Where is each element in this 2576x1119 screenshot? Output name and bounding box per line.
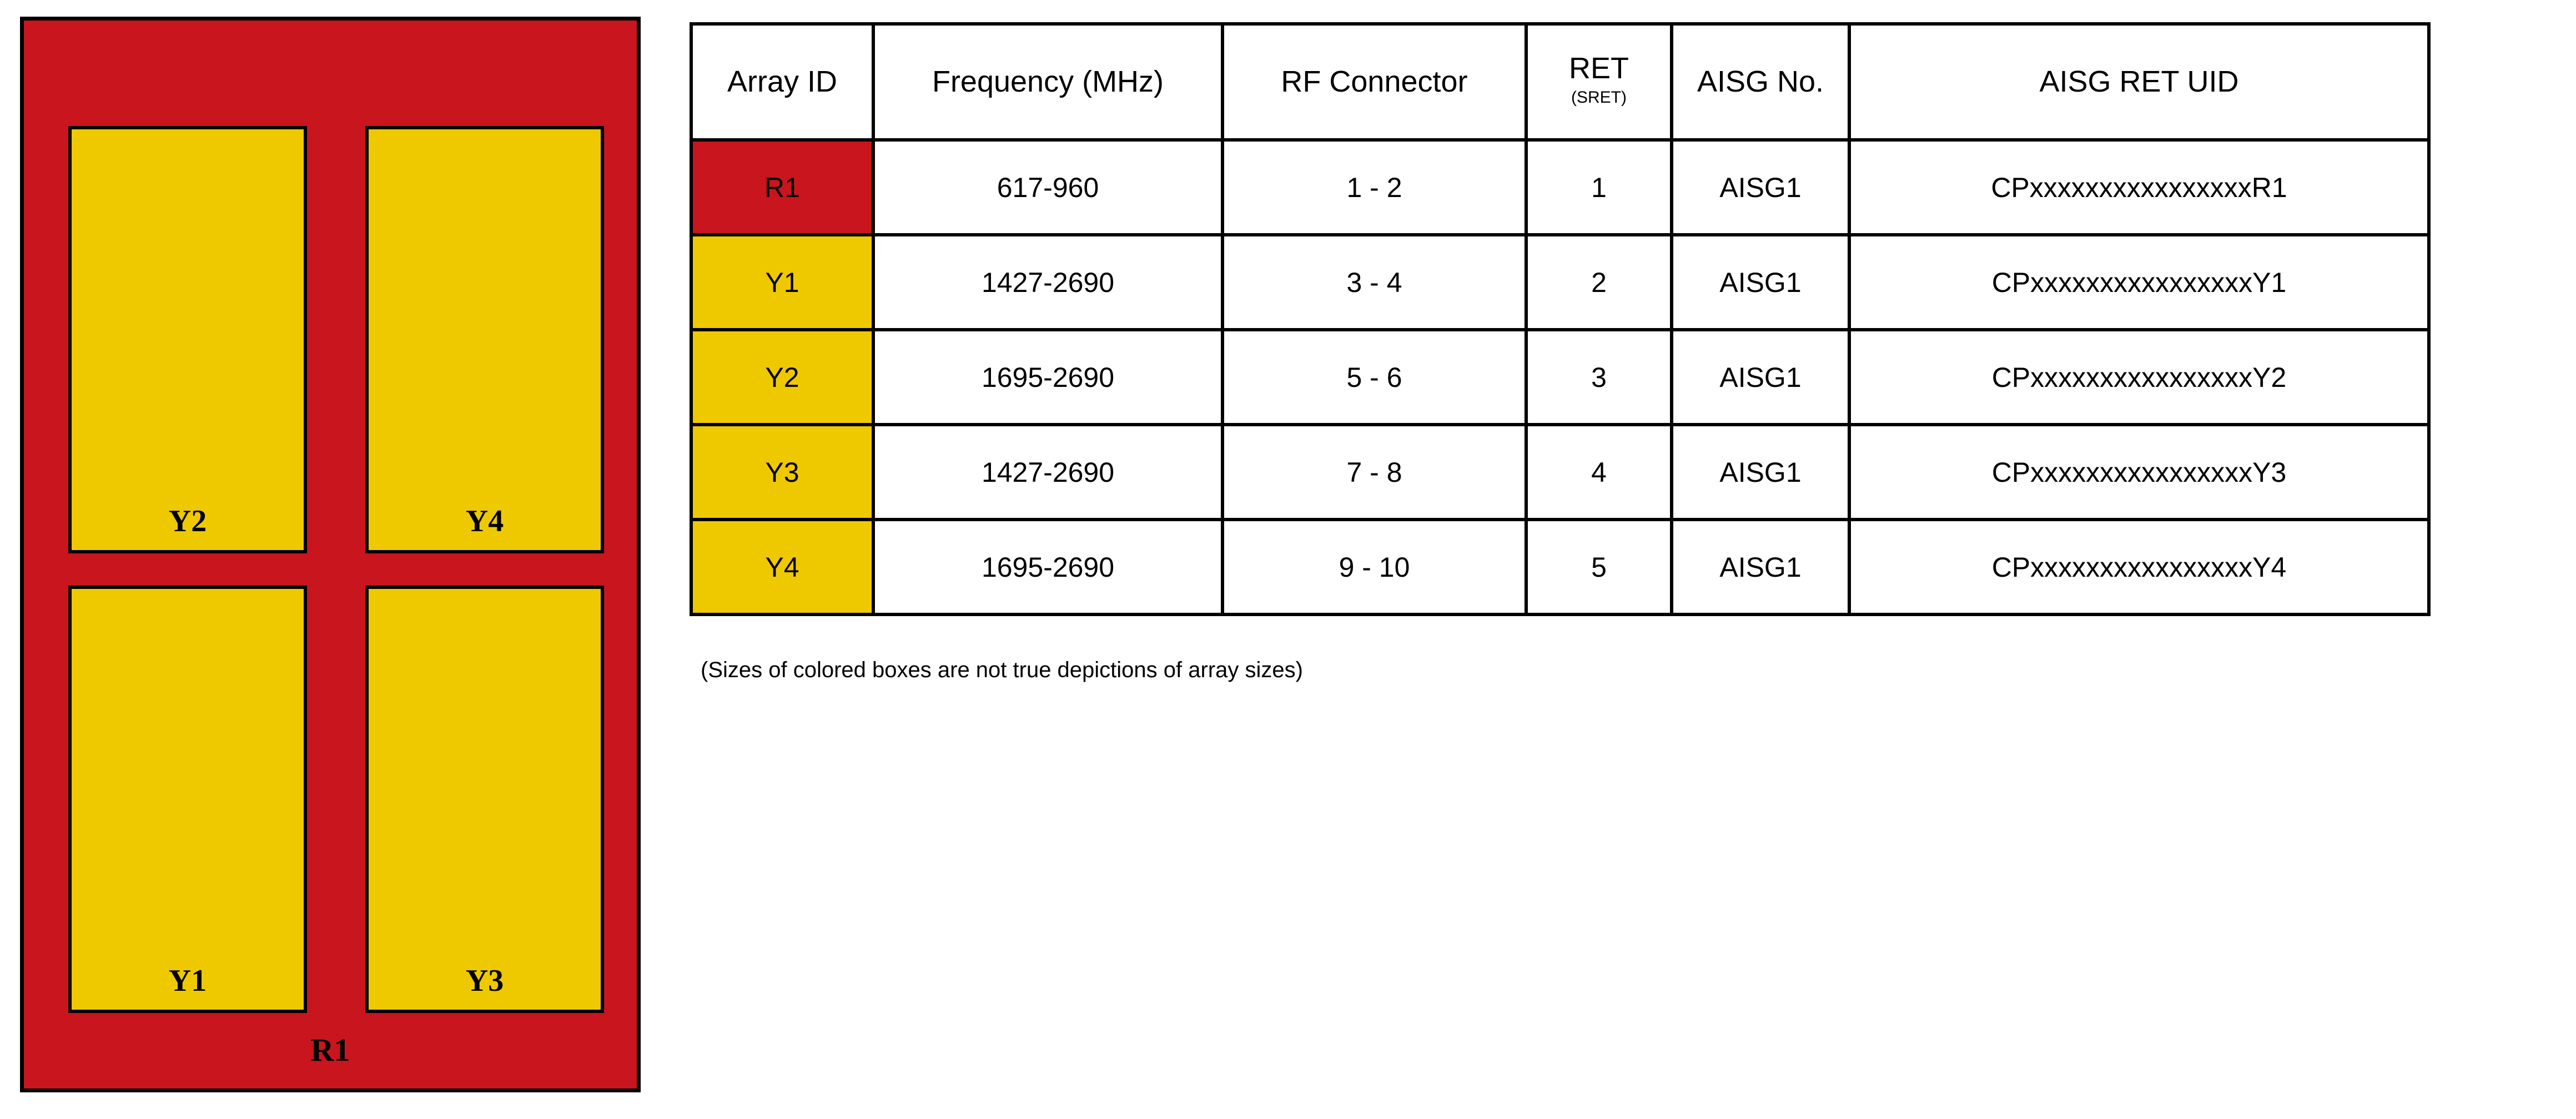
cell-array-id: Y4	[691, 520, 873, 614]
cell-rf-connector: 1 - 2	[1222, 140, 1526, 235]
cell-rf-connector: 9 - 10	[1222, 520, 1526, 614]
cell-array-id: Y2	[691, 330, 873, 425]
column-header-rf-connector: RF Connector	[1222, 24, 1526, 140]
cell-array-id: Y1	[691, 235, 873, 330]
cell-aisg-ret-uid: CPxxxxxxxxxxxxxxxxY4	[1849, 520, 2429, 614]
table-header-row: Array ID Frequency (MHz) RF Connector RE…	[691, 24, 2429, 140]
cell-aisg-ret-uid: CPxxxxxxxxxxxxxxxxY1	[1849, 235, 2429, 330]
column-header-aisg-no: AISG No.	[1672, 24, 1849, 140]
array-box-label-y3: Y3	[369, 965, 601, 996]
array-box-label-y4: Y4	[369, 506, 601, 537]
table-row: R1 617-960 1 - 2 1 AISG1 CPxxxxxxxxxxxxx…	[691, 140, 2429, 235]
column-header-frequency: Frequency (MHz)	[873, 24, 1222, 140]
cell-array-id: R1	[691, 140, 873, 235]
cell-aisg-no: AISG1	[1672, 520, 1849, 614]
cell-aisg-ret-uid: CPxxxxxxxxxxxxxxxxR1	[1849, 140, 2429, 235]
array-box-label-y1: Y1	[72, 965, 304, 996]
array-box-y4: Y4	[365, 126, 604, 553]
array-box-y3: Y3	[365, 586, 604, 1013]
cell-aisg-ret-uid: CPxxxxxxxxxxxxxxxxY3	[1849, 425, 2429, 520]
cell-rf-connector: 7 - 8	[1222, 425, 1526, 520]
cell-rf-connector: 3 - 4	[1222, 235, 1526, 330]
column-header-ret-sub: (SRET)	[1532, 84, 1666, 111]
table-row: Y1 1427-2690 3 - 4 2 AISG1 CPxxxxxxxxxxx…	[691, 235, 2429, 330]
cell-aisg-no: AISG1	[1672, 140, 1849, 235]
ret-configuration-table-wrapper: Array ID Frequency (MHz) RF Connector RE…	[690, 22, 2354, 616]
cell-aisg-no: AISG1	[1672, 330, 1849, 425]
cell-aisg-no: AISG1	[1672, 235, 1849, 330]
cell-frequency: 1427-2690	[873, 235, 1222, 330]
antenna-panel-diagram: Y2 Y4 Y1 Y3 R1	[20, 17, 641, 1092]
cell-rf-connector: 5 - 6	[1222, 330, 1526, 425]
column-header-aisg-ret-uid: AISG RET UID	[1849, 24, 2429, 140]
column-header-ret: RET (SRET)	[1526, 24, 1672, 140]
table-row: Y2 1695-2690 5 - 6 3 AISG1 CPxxxxxxxxxxx…	[691, 330, 2429, 425]
column-header-array-id: Array ID	[691, 24, 873, 140]
cell-frequency: 1695-2690	[873, 330, 1222, 425]
cell-ret: 3	[1526, 330, 1672, 425]
cell-ret: 2	[1526, 235, 1672, 330]
cell-array-id: Y3	[691, 425, 873, 520]
column-header-ret-main: RET	[1569, 52, 1629, 85]
array-box-y1: Y1	[68, 586, 307, 1013]
cell-aisg-ret-uid: CPxxxxxxxxxxxxxxxxY2	[1849, 330, 2429, 425]
table-body: R1 617-960 1 - 2 1 AISG1 CPxxxxxxxxxxxxx…	[691, 140, 2429, 614]
cell-ret: 4	[1526, 425, 1672, 520]
array-box-label-y2: Y2	[72, 506, 304, 537]
table-row: Y3 1427-2690 7 - 8 4 AISG1 CPxxxxxxxxxxx…	[691, 425, 2429, 520]
cell-aisg-no: AISG1	[1672, 425, 1849, 520]
array-box-y2: Y2	[68, 126, 307, 553]
ret-configuration-table: Array ID Frequency (MHz) RF Connector RE…	[690, 22, 2431, 616]
table-footnote: (Sizes of colored boxes are not true dep…	[701, 658, 1303, 683]
cell-ret: 1	[1526, 140, 1672, 235]
cell-ret: 5	[1526, 520, 1672, 614]
cell-frequency: 1427-2690	[873, 425, 1222, 520]
table-header: Array ID Frequency (MHz) RF Connector RE…	[691, 24, 2429, 140]
table-row: Y4 1695-2690 9 - 10 5 AISG1 CPxxxxxxxxxx…	[691, 520, 2429, 614]
panel-label-r1: R1	[24, 1034, 637, 1066]
cell-frequency: 617-960	[873, 140, 1222, 235]
cell-frequency: 1695-2690	[873, 520, 1222, 614]
